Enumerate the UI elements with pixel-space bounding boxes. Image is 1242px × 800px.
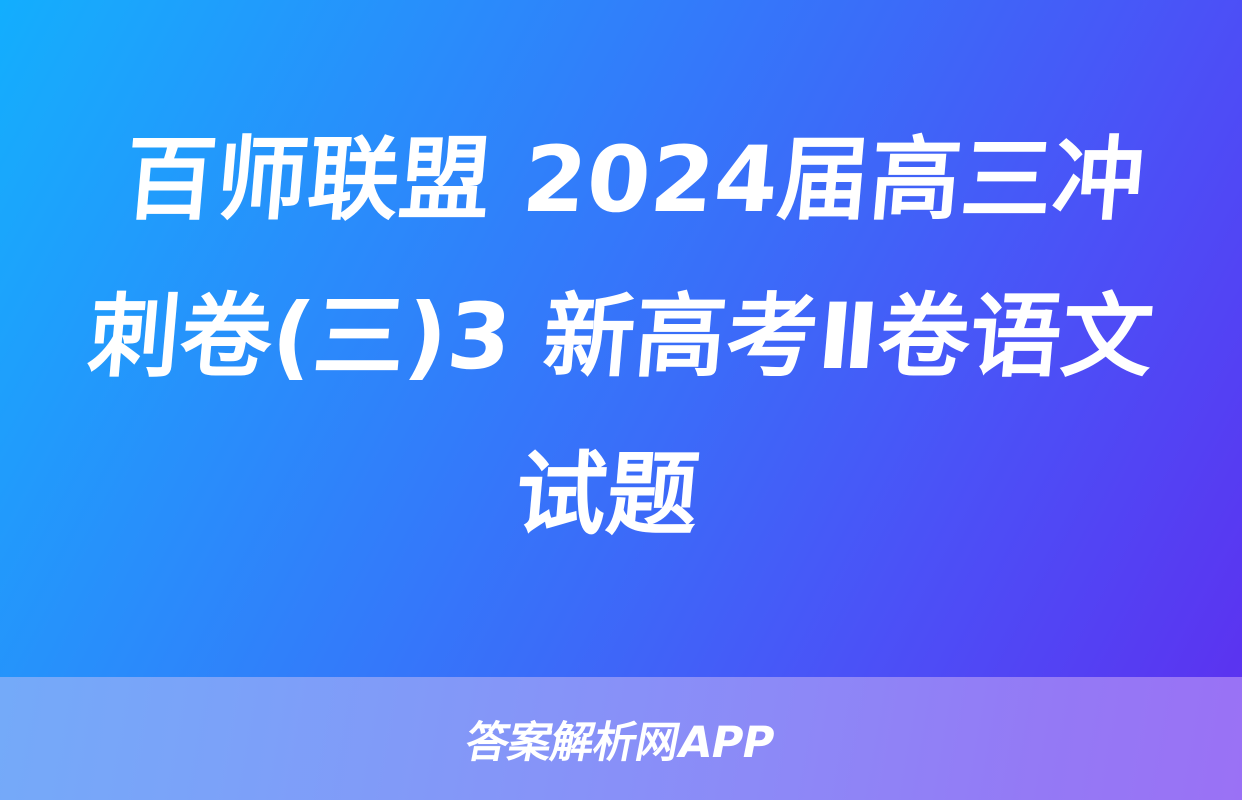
title-block: 百师联盟 2024届高三冲刺卷(三)3 新高考Ⅱ卷语文试题 [0, 0, 1242, 677]
app-brand-label: 答案解析网APP [461, 708, 780, 770]
page-title: 百师联盟 2024届高三冲刺卷(三)3 新高考Ⅱ卷语文试题 [51, 102, 1190, 574]
poster-canvas: 百师联盟 2024届高三冲刺卷(三)3 新高考Ⅱ卷语文试题 答案解析网APP [0, 0, 1242, 800]
footer-brand-block: 答案解析网APP [0, 677, 1242, 800]
